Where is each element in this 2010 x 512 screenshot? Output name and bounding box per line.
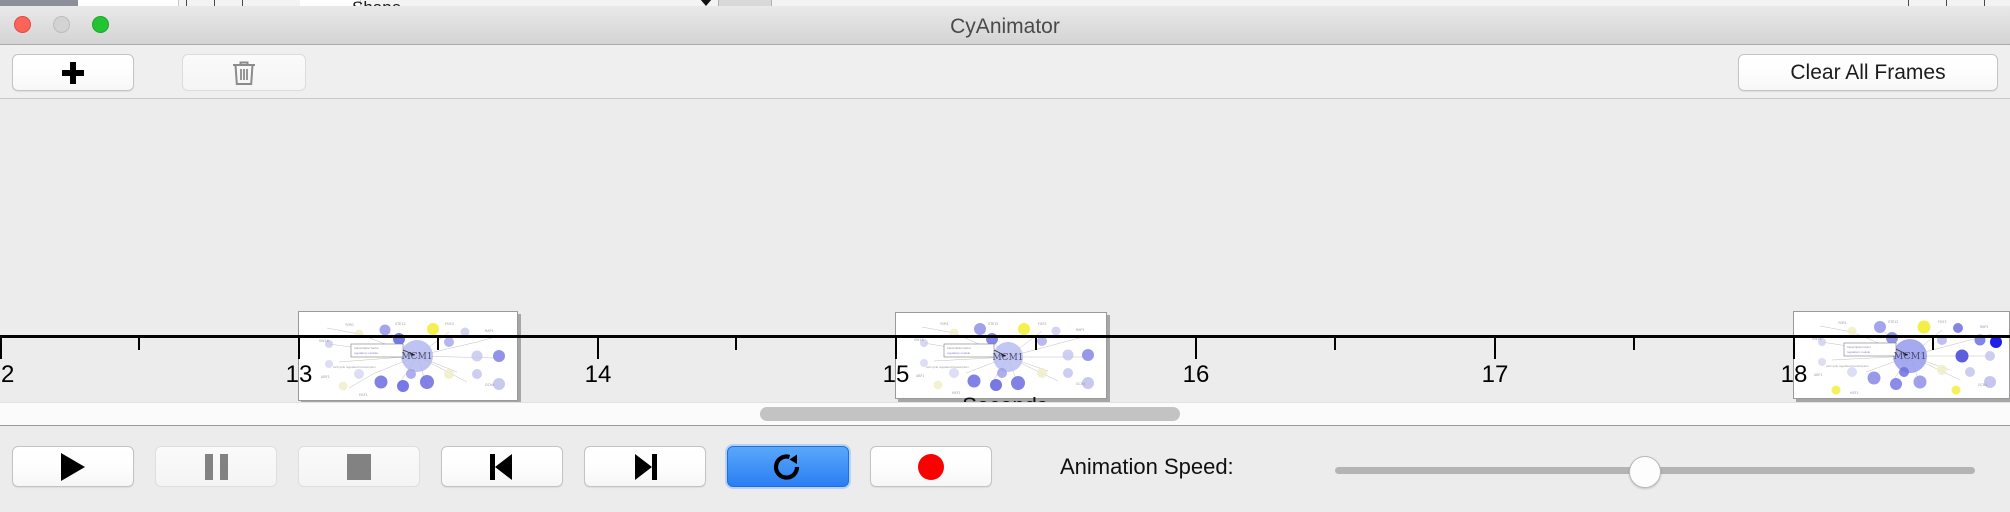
window-title: CyAnimator: [0, 15, 2010, 39]
axis-tick: [1035, 338, 1037, 350]
stop-icon: [347, 454, 371, 480]
loop-button[interactable]: [727, 446, 849, 487]
timeline-panel[interactable]: YOR1SW16 STE12FUS3 RAP1GCN4 HSF1ABF1 tra…: [0, 99, 2010, 402]
axis-tick-label: 18: [1781, 361, 1808, 389]
play-button[interactable]: [12, 446, 134, 487]
axis-tick: [0, 338, 2, 359]
animation-speed-slider[interactable]: [1335, 456, 1975, 486]
svg-text:RAP1: RAP1: [1980, 325, 1989, 329]
axis-tick-label: 12: [0, 361, 14, 389]
stop-button[interactable]: [298, 446, 420, 487]
record-icon: [918, 454, 944, 480]
axis-tick: [597, 338, 599, 359]
pause-button[interactable]: [155, 446, 277, 487]
axis-tick: [138, 338, 140, 350]
clear-all-frames-button[interactable]: Clear All Frames: [1738, 54, 1998, 91]
axis-tick: [1793, 338, 1795, 359]
axis-tick: [437, 338, 439, 350]
add-frame-button[interactable]: [12, 54, 134, 91]
svg-text:FUS3: FUS3: [1038, 322, 1047, 326]
svg-text:RAP1: RAP1: [485, 329, 494, 333]
svg-text:STE12: STE12: [395, 322, 406, 326]
skip-next-icon: [632, 454, 658, 480]
axis-tick: [298, 338, 300, 359]
toolbar: Clear All Frames: [0, 45, 2010, 99]
axis-line: [0, 335, 2010, 338]
svg-text:RAP1: RAP1: [1076, 328, 1085, 332]
clear-all-frames-label: Clear All Frames: [1790, 61, 1945, 85]
delete-frame-button[interactable]: [182, 54, 306, 91]
svg-text:FUS3: FUS3: [445, 322, 454, 326]
svg-text:FUS3: FUS3: [1938, 320, 1947, 324]
axis-tick: [735, 338, 737, 350]
svg-text:YOR1: YOR1: [345, 323, 354, 327]
svg-text:YOR1: YOR1: [1838, 321, 1847, 325]
slider-thumb[interactable]: [1629, 456, 1661, 488]
scrollbar-thumb[interactable]: [760, 407, 1180, 421]
skip-previous-button[interactable]: [441, 446, 563, 487]
svg-text:STE12: STE12: [1888, 320, 1898, 324]
axis-tick-label: 14: [585, 361, 612, 389]
axis-title: Seconds: [0, 393, 2010, 402]
play-icon: [61, 453, 85, 481]
animation-speed-label: Animation Speed:: [1060, 454, 1234, 480]
axis-tick: [1932, 338, 1934, 350]
skip-next-button[interactable]: [584, 446, 706, 487]
playback-controls-bar: Animation Speed:: [0, 426, 2010, 512]
plus-icon: [61, 61, 85, 85]
record-button[interactable]: [870, 446, 992, 487]
svg-text:YOR1: YOR1: [940, 322, 949, 326]
axis-tick: [1334, 338, 1336, 350]
axis-tick: [895, 338, 897, 359]
timeline-horizontal-scrollbar[interactable]: [0, 402, 2010, 426]
axis-tick-label: 16: [1183, 361, 1210, 389]
axis-tick-label: 15: [883, 361, 910, 389]
axis-tick-label: 13: [286, 361, 313, 389]
axis-tick: [1494, 338, 1496, 359]
axis-tick: [1195, 338, 1197, 359]
title-bar: CyAnimator: [0, 6, 2010, 45]
cyanimator-window: CyAnimator Clear All Frames: [0, 6, 2010, 510]
loop-refresh-icon: [772, 452, 804, 482]
timeline-axis: 12131415161718 Seconds: [0, 335, 2010, 402]
axis-tick-label: 17: [1482, 361, 1509, 389]
trash-icon: [231, 59, 257, 87]
svg-text:STE12: STE12: [988, 322, 998, 326]
skip-previous-icon: [489, 454, 515, 480]
pause-icon: [205, 454, 228, 480]
axis-tick: [1633, 338, 1635, 350]
